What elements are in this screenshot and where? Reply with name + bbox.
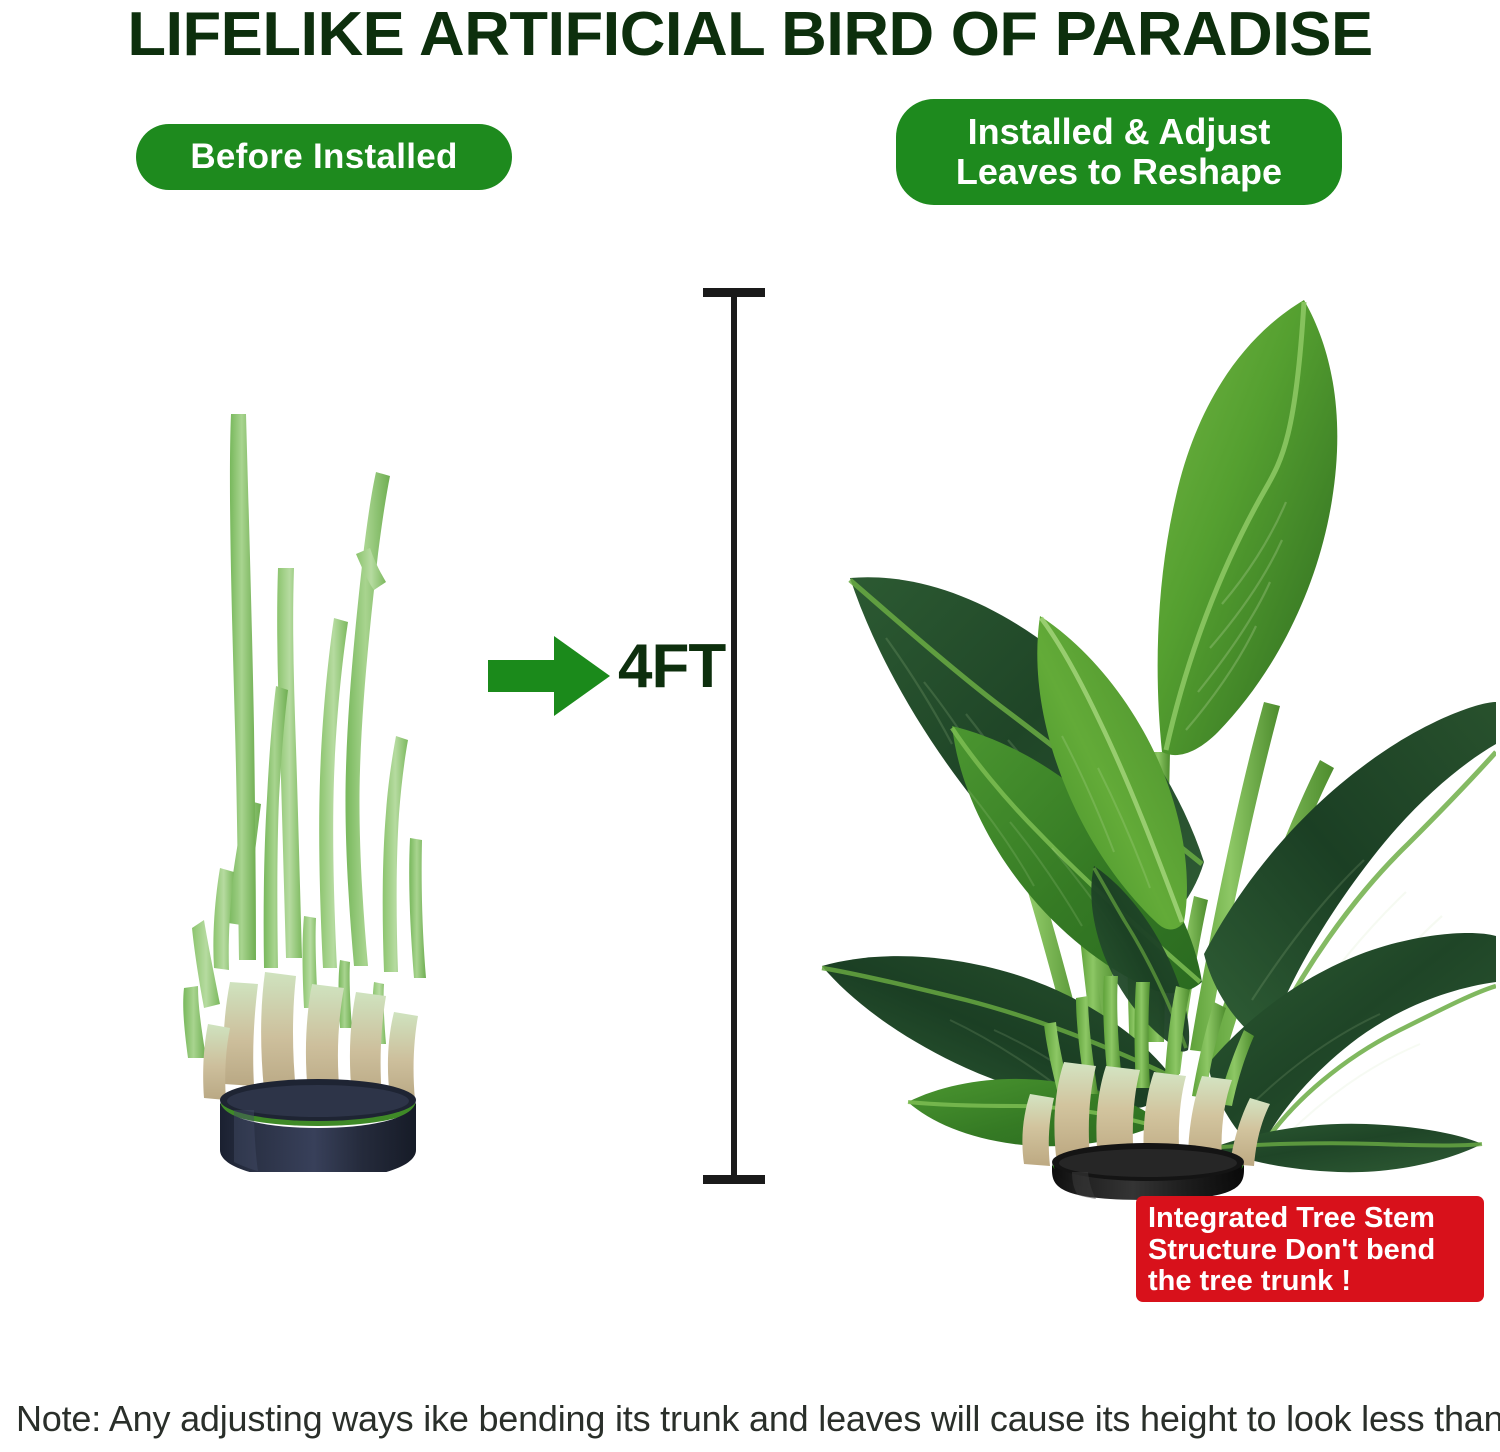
warning-line-2-bold: Don't bend bbox=[1285, 1234, 1435, 1266]
footer-note: Note: Any adjusting ways ike bending its… bbox=[16, 1398, 1491, 1440]
badge-before-installed: Before Installed bbox=[136, 124, 512, 190]
warning-line-2-normal: Structure bbox=[1148, 1234, 1285, 1266]
infographic-canvas: LIFELIKE ARTIFICIAL BIRD OF PARADISE Bef… bbox=[0, 0, 1500, 1452]
leaf-top-center bbox=[1158, 300, 1338, 755]
warning-line-1: Integrated Tree Stem bbox=[1148, 1203, 1474, 1235]
furled-plant-icon bbox=[168, 368, 468, 1172]
left-plant-image bbox=[168, 368, 468, 1172]
badge-installed-line2: Leaves to Reshape bbox=[956, 152, 1282, 192]
badge-installed-line1: Installed & Adjust bbox=[956, 112, 1282, 152]
measure-bar bbox=[731, 292, 737, 1180]
unfurled-plant-icon bbox=[752, 282, 1496, 1200]
badge-before-installed-label: Before Installed bbox=[190, 137, 457, 177]
warning-box: Integrated Tree Stem Structure Don't ben… bbox=[1136, 1196, 1484, 1302]
right-arrow-icon bbox=[488, 634, 610, 718]
page-title: LIFELIKE ARTIFICIAL BIRD OF PARADISE bbox=[0, 4, 1500, 66]
warning-line-2: Structure Don't bend bbox=[1148, 1235, 1474, 1267]
badge-installed-adjust: Installed & Adjust Leaves to Reshape bbox=[896, 99, 1342, 205]
right-plant-image bbox=[752, 282, 1496, 1200]
warning-line-3: the tree trunk ! bbox=[1148, 1266, 1474, 1298]
